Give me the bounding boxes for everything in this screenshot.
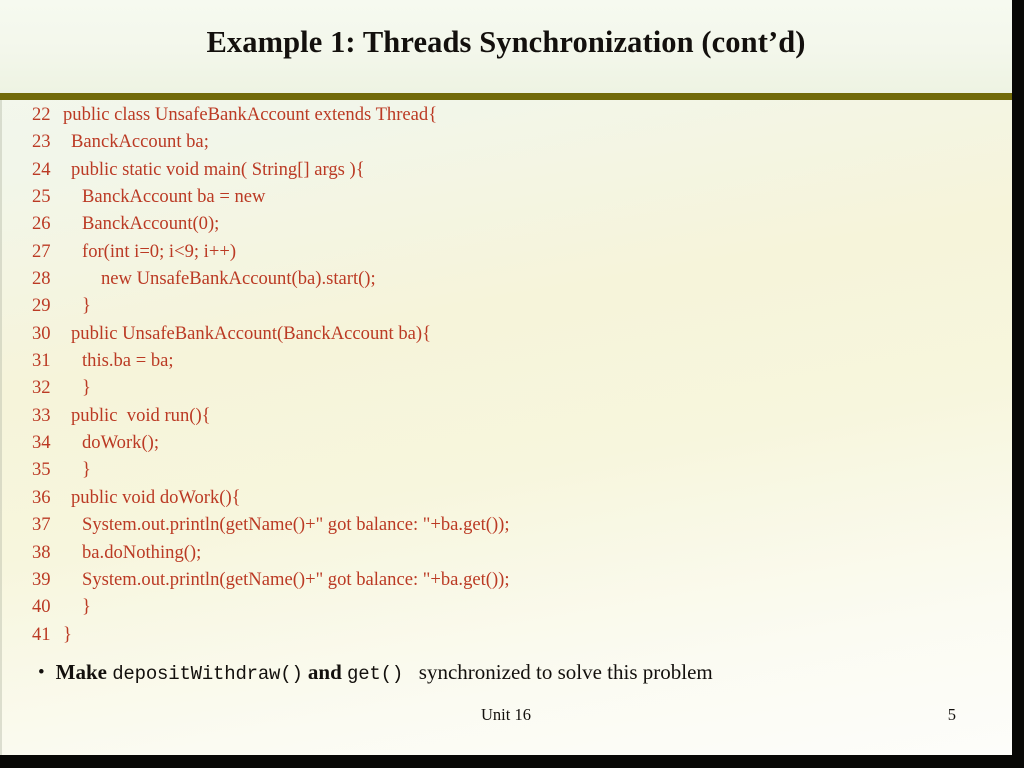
code-line-number: 33 <box>32 402 60 429</box>
title-divider-rule <box>0 93 1012 100</box>
code-line: 23BanckAccount ba; <box>0 128 1012 155</box>
code-line-number: 39 <box>32 566 60 593</box>
code-line: 39System.out.println(getName()+" got bal… <box>0 566 1012 593</box>
code-line: 29} <box>0 292 1012 319</box>
code-line-source: } <box>82 456 91 483</box>
code-line-number: 32 <box>32 374 60 401</box>
code-line-source: public class UnsafeBankAccount extends T… <box>63 101 437 128</box>
code-line: 30public UnsafeBankAccount(BanckAccount … <box>0 320 1012 347</box>
letterbox-bottom <box>0 755 1024 768</box>
code-line-source: public void run(){ <box>71 402 211 429</box>
page-title: Example 1: Threads Synchronization (cont… <box>0 25 1012 60</box>
code-line-number: 26 <box>32 210 60 237</box>
code-line-source: } <box>63 621 72 648</box>
code-line: 33public void run(){ <box>0 402 1012 429</box>
code-line: 35} <box>0 456 1012 483</box>
code-line-number: 35 <box>32 456 60 483</box>
code-line-source: for(int i=0; i<9; i++) <box>82 238 236 265</box>
code-line: 22public class UnsafeBankAccount extends… <box>0 101 1012 128</box>
code-line-source: System.out.println(getName()+" got balan… <box>82 511 510 538</box>
code-line-number: 22 <box>32 101 60 128</box>
code-line-source: BanckAccount ba = new <box>82 183 265 210</box>
code-line-source: System.out.println(getName()+" got balan… <box>82 566 510 593</box>
code-line-number: 29 <box>32 292 60 319</box>
code-line-source: public static void main( String[] args )… <box>71 156 365 183</box>
code-line-number: 34 <box>32 429 60 456</box>
code-line-number: 40 <box>32 593 60 620</box>
code-line-number: 41 <box>32 621 60 648</box>
code-line: 41} <box>0 621 1012 648</box>
code-line-source: public UnsafeBankAccount(BanckAccount ba… <box>71 320 431 347</box>
bullet-code-depositwithdraw: depositWithdraw() <box>112 663 302 685</box>
code-line-source: public void doWork(){ <box>71 484 241 511</box>
bullet-text-make: Make <box>56 660 113 684</box>
bullet-text-tail: synchronized to solve this problem <box>403 660 713 684</box>
slide: Example 1: Threads Synchronization (cont… <box>0 0 1024 768</box>
code-line-source: ba.doNothing(); <box>82 539 201 566</box>
code-line-number: 25 <box>32 183 60 210</box>
code-line-source: } <box>82 292 91 319</box>
code-line-number: 31 <box>32 347 60 374</box>
slide-canvas: Example 1: Threads Synchronization (cont… <box>0 0 1012 755</box>
code-line-source: this.ba = ba; <box>82 347 174 374</box>
footer-page-number: 5 <box>948 705 956 725</box>
code-line-source: BanckAccount ba; <box>71 128 209 155</box>
code-line: 36public void doWork(){ <box>0 484 1012 511</box>
code-line-number: 30 <box>32 320 60 347</box>
bullet-text-and: and <box>303 660 347 684</box>
code-line-source: doWork(); <box>82 429 159 456</box>
footer-unit-label: Unit 16 <box>0 705 1012 725</box>
code-line: 31this.ba = ba; <box>0 347 1012 374</box>
code-line: 32} <box>0 374 1012 401</box>
code-line: 38ba.doNothing(); <box>0 539 1012 566</box>
code-line-number: 36 <box>32 484 60 511</box>
code-line-source: } <box>82 593 91 620</box>
code-line-number: 27 <box>32 238 60 265</box>
bullet-code-get: get() <box>347 663 403 685</box>
code-block: 22public class UnsafeBankAccount extends… <box>0 101 1012 648</box>
bullet-note: •Make depositWithdraw() and get() synchr… <box>0 655 1012 689</box>
code-line-number: 24 <box>32 156 60 183</box>
code-line-source: } <box>82 374 91 401</box>
code-line: 24public static void main( String[] args… <box>0 156 1012 183</box>
code-line: 34doWork(); <box>0 429 1012 456</box>
code-line: 37System.out.println(getName()+" got bal… <box>0 511 1012 538</box>
code-line-number: 37 <box>32 511 60 538</box>
code-line: 26BanckAccount(0); <box>0 210 1012 237</box>
title-band: Example 1: Threads Synchronization (cont… <box>0 0 1012 93</box>
code-line-number: 28 <box>32 265 60 292</box>
code-line: 40} <box>0 593 1012 620</box>
code-line: 28new UnsafeBankAccount(ba).start(); <box>0 265 1012 292</box>
slide-footer: Unit 16 5 <box>0 705 1012 733</box>
bullet-marker: • <box>38 656 45 690</box>
letterbox-right <box>1012 0 1024 768</box>
code-line: 25BanckAccount ba = new <box>0 183 1012 210</box>
code-line-source: BanckAccount(0); <box>82 210 219 237</box>
code-line-number: 38 <box>32 539 60 566</box>
code-line-source: new UnsafeBankAccount(ba).start(); <box>101 265 376 292</box>
code-line-number: 23 <box>32 128 60 155</box>
code-line: 27for(int i=0; i<9; i++) <box>0 238 1012 265</box>
